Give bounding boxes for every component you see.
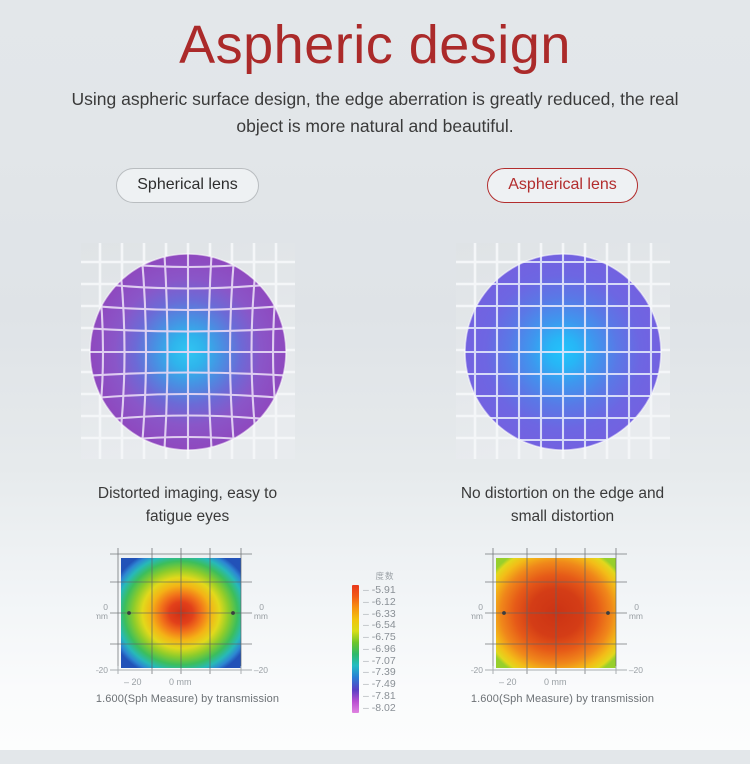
lens-illustration-row — [0, 235, 750, 467]
aspherical-lens-svg — [448, 235, 678, 467]
svg-text:mm: mm — [471, 611, 483, 621]
legend-title: 度数 — [344, 570, 426, 582]
legend-tick: -6.54 — [363, 620, 396, 631]
caption-cell-left: Distorted imaging, easy to fatigue eyes — [0, 483, 375, 528]
heatmap-marker-left-l — [127, 611, 131, 615]
pill-cell-left: Spherical lens — [0, 168, 375, 203]
heatmap-marker-right-l — [502, 611, 506, 615]
pill-cell-right: Aspherical lens — [375, 168, 750, 203]
svg-text:mm: mm — [629, 611, 643, 621]
power-colorbar-legend: 度数 -5.91 -6.12 -6.33 -6.54 -6.75 -6.96 -… — [352, 570, 426, 713]
legend-tick: -7.49 — [363, 679, 396, 690]
legend-tick-labels: -5.91 -6.12 -6.33 -6.54 -6.75 -6.96 -7.0… — [363, 585, 396, 713]
page-subtitle: Using aspheric surface design, the edge … — [0, 86, 750, 140]
aspherical-lens-badge[interactable]: Aspherical lens — [487, 168, 638, 203]
svg-text:0 mm: 0 mm — [544, 677, 567, 687]
svg-text:–20: –20 — [254, 665, 268, 675]
heatmap-marker-right-r — [606, 611, 610, 615]
legend-tick: -6.12 — [363, 597, 396, 608]
aspherical-lens-caption: No distortion on the edge and small dist… — [455, 483, 670, 528]
heatmap-cell-left: 0 mm –20 0 mm –20 – 20 0 mm 1.600(Sph Me… — [0, 540, 375, 705]
svg-text:mm: mm — [254, 611, 268, 621]
svg-text:–20: –20 — [629, 665, 643, 675]
legend-tick: -6.33 — [363, 609, 396, 620]
spherical-lens-svg — [73, 235, 303, 467]
legend-tick: -7.39 — [363, 667, 396, 678]
spherical-heatmap-figure: 0 mm –20 0 mm –20 – 20 0 mm 1.600(Sph Me… — [96, 540, 279, 705]
spherical-heatmap-svg: 0 mm –20 0 mm –20 – 20 0 mm — [96, 540, 276, 690]
aspherical-heatmap-figure: 0 mm –20 0 mm –20 – 20 0 mm 1.600(Sph Me… — [471, 540, 654, 705]
heatmap-left-ylabel-bottom: –20 — [96, 665, 108, 675]
caption-cell-right: No distortion on the edge and small dist… — [375, 483, 750, 528]
spherical-lens-figure — [73, 235, 303, 467]
aspherical-chart-caption: 1.600(Sph Measure) by transmission — [471, 693, 654, 705]
legend-tick: -8.02 — [363, 703, 396, 714]
svg-text:–20: –20 — [471, 665, 483, 675]
heatmap-cell-right: 0 mm –20 0 mm –20 – 20 0 mm 1.600(Sph Me… — [375, 540, 750, 705]
heatmap-left-xtick-zero: 0 mm — [169, 677, 192, 687]
legend-tick: -7.81 — [363, 691, 396, 702]
page-title: Aspheric design — [0, 14, 750, 76]
legend-color-bar — [352, 585, 359, 713]
spherical-lens-badge[interactable]: Spherical lens — [116, 168, 259, 203]
legend-tick: -6.96 — [363, 644, 396, 655]
svg-text:mm: mm — [96, 611, 108, 621]
aspherical-heatmap-svg: 0 mm –20 0 mm –20 – 20 0 mm — [471, 540, 651, 690]
lens-caption-row: Distorted imaging, easy to fatigue eyes … — [0, 483, 750, 528]
heatmap-marker-left-r — [231, 611, 235, 615]
svg-text:– 20: – 20 — [499, 677, 517, 687]
spherical-lens-caption: Distorted imaging, easy to fatigue eyes — [80, 483, 295, 528]
legend-tick: -7.07 — [363, 656, 396, 667]
legend-tick: -6.75 — [363, 632, 396, 643]
lens-type-label-row: Spherical lens Aspherical lens — [0, 168, 750, 203]
legend-tick: -5.91 — [363, 585, 396, 596]
aspherical-lens-figure — [448, 235, 678, 467]
spherical-chart-caption: 1.600(Sph Measure) by transmission — [96, 693, 279, 705]
lens-cell-left — [0, 235, 375, 467]
heatmap-left-xtick-min: – 20 — [124, 677, 142, 687]
lens-cell-right — [375, 235, 750, 467]
legend-body: -5.91 -6.12 -6.33 -6.54 -6.75 -6.96 -7.0… — [352, 585, 426, 713]
